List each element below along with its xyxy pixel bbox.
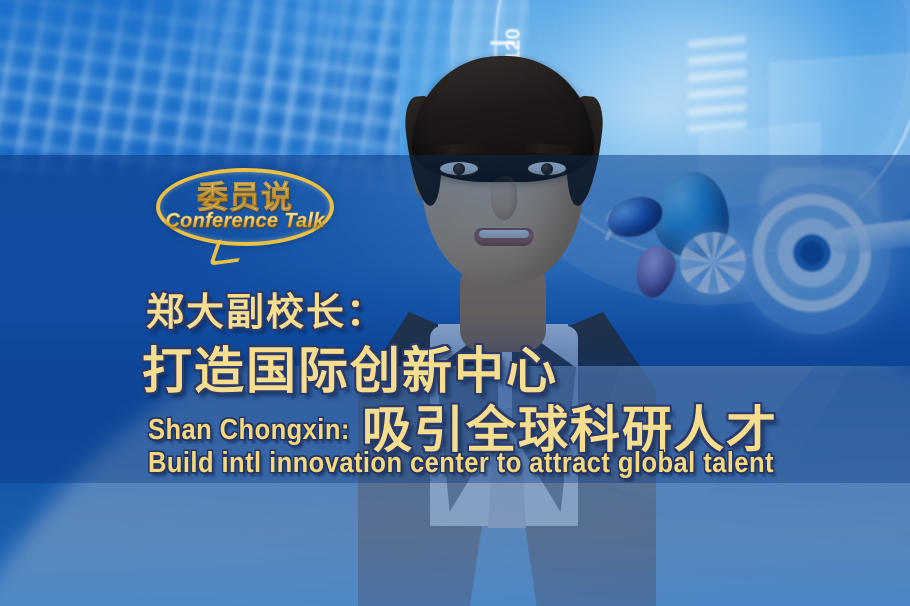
title-band-tint [0,155,910,483]
title-card: 6070110120130140150 [0,0,910,606]
barcode-strip [688,35,746,136]
conference-talk-logo: 委员说 Conference Talk [150,166,340,268]
logo-english-text: Conference Talk [150,210,340,233]
